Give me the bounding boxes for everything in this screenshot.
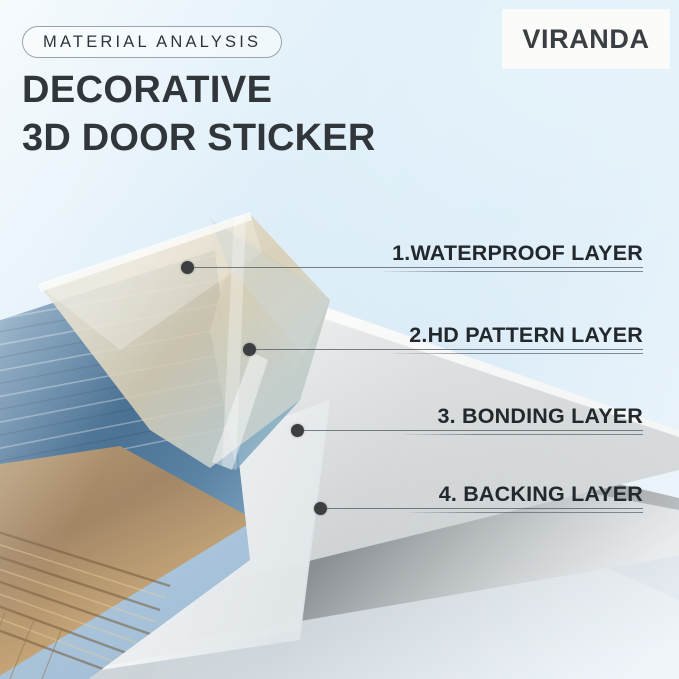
callout-4: 4. BACKING LAYER [409,484,643,513]
callout-label-3: 3. BONDING LAYER [438,406,644,428]
callout-1: 1.WATERPROOF LAYER [383,243,643,272]
headline-line-1: DECORATIVE [22,66,375,114]
callout-label-4: 4. BACKING LAYER [439,484,643,506]
callout-rule-4 [409,512,643,513]
callout-rule-2 [393,353,643,354]
callout-rule-3 [403,434,643,435]
callout-dot-4 [314,502,327,515]
brand-name: VIRANDA [522,24,649,55]
badge-label: MATERIAL ANALYSIS [43,33,261,52]
callout-label-1: 1.WATERPROOF LAYER [392,243,643,265]
material-analysis-badge: MATERIAL ANALYSIS [22,26,282,58]
callout-dot-2 [243,343,256,356]
callout-2: 2.HD PATTERN LAYER [393,325,643,354]
callout-dot-1 [181,261,194,274]
page-title: DECORATIVE 3D DOOR STICKER [22,66,375,162]
material-analysis-infographic: MATERIAL ANALYSIS DECORATIVE 3D DOOR STI… [0,0,679,679]
brand-logo: VIRANDA [503,10,669,68]
callout-3: 3. BONDING LAYER [403,406,643,435]
callout-dot-3 [291,424,304,437]
callout-rule-1 [383,271,643,272]
headline-line-2: 3D DOOR STICKER [22,114,375,162]
callout-label-2: 2.HD PATTERN LAYER [409,325,643,347]
